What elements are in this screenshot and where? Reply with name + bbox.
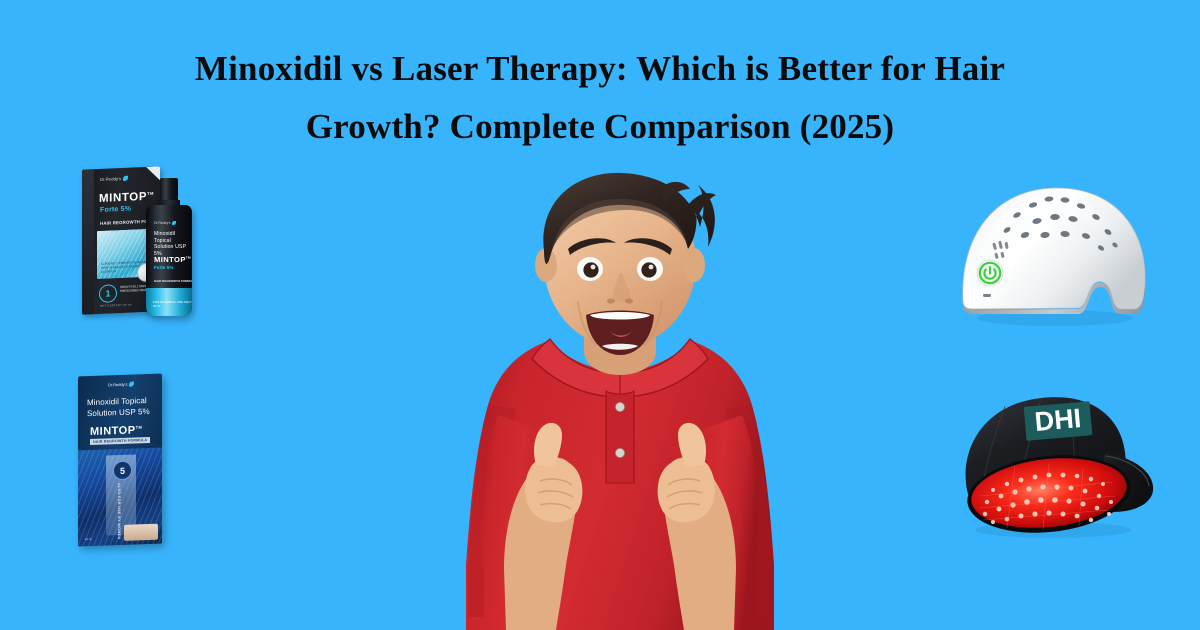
product-laser-helmet [945,175,1160,330]
eye-left-catchlight [591,265,596,270]
product-dhi-laser-cap: DHI [945,378,1160,543]
carton-spine [82,169,94,315]
bottle-formula-label: HAIR REGROWTH FORMULA [154,279,192,283]
usp-carton-description: Minoxidil Topical Solution USP 5% [87,395,155,419]
person-illustration [420,165,820,630]
bottle-description: Minoxidil Topical Solution USP 5% [154,231,188,257]
dhi-laser-cap-illustration: DHI [945,378,1160,543]
dr-reddys-leaf-icon [123,176,128,181]
dhi-logo-patch: DHI [1024,401,1093,441]
usp-carton-vertical-text: ALSO FOR USE BY WOMEN [117,483,121,540]
bottle-strength-label: Forte 5% [154,265,173,270]
eye-right-iris [641,262,656,277]
helmet-port [983,294,991,297]
banner-canvas: Minoxidil vs Laser Therapy: Which is Bet… [0,0,1200,630]
page-title-line-2: Growth? Complete Comparison (2025) [150,98,1050,156]
usp-carton-artwork: 5 ALSO FOR USE BY WOMEN [78,448,162,547]
dr-reddys-leaf-icon [129,381,134,386]
ear-right [683,248,705,282]
product-mintop-usp-box: Dr.Reddy's Minoxidil Topical Solution US… [78,375,188,550]
bottle-volume-label: FOR EXTERNAL USE ONLY 60 ml [153,300,192,308]
fist-left [525,458,582,523]
eye-left-iris [583,262,598,277]
carton-strength-label: Forte 5% [100,206,131,214]
nostril-left [607,298,615,303]
bottle-brand-label: Dr.Reddy's [154,221,176,225]
mintop-usp-carton: Dr.Reddy's Minoxidil Topical Solution US… [78,374,162,547]
usp-carton-brand-label: Dr.Reddy's [108,381,134,387]
carton-footer-text: NET CONTENT: 60 ml [100,303,132,308]
usp-carton-product-name: MINTOPTM [90,424,142,438]
person-smiling-man-thumbs-up [420,165,820,630]
helmet-power-button[interactable] [977,260,1003,286]
carton-rank-badge: 1 [99,284,117,303]
mintop-forte-bottle: Dr.Reddy's Minoxidil Topical Solution US… [144,178,194,316]
usp-carton-sub-label: HAIR REGROWTH FORMULA [90,437,150,445]
product-mintop-forte-kit: Dr.Reddy's MINTOPTM Forte 5% HAIR REGROW… [62,160,222,320]
shirt-button-bottom [615,448,624,457]
dhi-logo-text: DHI [1033,403,1082,437]
bottle-cap [160,178,178,202]
usp-carton-applicator-image [124,524,158,541]
laser-helmet-illustration [945,175,1160,330]
shirt-button-top [615,402,624,411]
dr-reddys-leaf-icon [172,221,176,225]
bottle-product-name: MINTOPTM [154,255,191,264]
eye-right-catchlight [649,265,654,270]
usp-carton-footer-text: 60 ml [85,537,92,541]
fist-right [658,458,715,523]
nostril-right [625,298,633,303]
carton-brand-label: Dr.Reddy's [100,176,128,182]
page-title: Minoxidil vs Laser Therapy: Which is Bet… [150,40,1050,156]
bottle-body: Dr.Reddy's Minoxidil Topical Solution US… [146,205,192,316]
page-title-line-1: Minoxidil vs Laser Therapy: Which is Bet… [150,40,1050,98]
